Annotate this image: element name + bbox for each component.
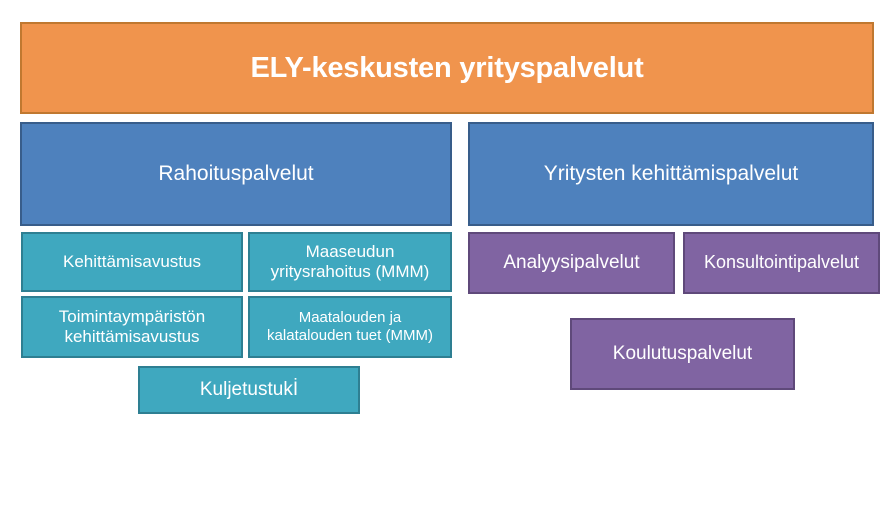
diagram-title-label: ELY-keskusten yrityspalvelut: [244, 51, 649, 85]
service-label-kehittamisavustus: Kehittämisavustus: [57, 252, 207, 272]
service-box-kehittamisavustus: Kehittämisavustus: [21, 232, 243, 292]
service-label-koulutuspalvelut: Koulutuspalvelut: [607, 343, 758, 365]
service-box-kuljetustuki: Kuljetustukİ: [138, 366, 360, 414]
diagram-canvas: ELY-keskusten yrityspalvelut Rahoituspal…: [0, 0, 894, 505]
service-label-konsultointipalvelut: Konsultointipalvelut: [698, 252, 865, 273]
service-box-toimintaympariston-kehittamisavustus: Toimintaympäristön kehittämisavustus: [21, 296, 243, 358]
branch-label-rahoituspalvelut: Rahoituspalvelut: [152, 162, 319, 187]
service-label-maatalouden-ja-kalatalouden-tuet: Maatalouden ja kalatalouden tuet (MMM): [250, 309, 450, 344]
service-label-maaseudun-yritysrahoitus: Maaseudun yritysrahoitus (MMM): [250, 242, 450, 282]
diagram-title-box: ELY-keskusten yrityspalvelut: [20, 22, 874, 114]
service-label-analyysipalvelut: Analyysipalvelut: [497, 252, 645, 274]
service-box-maatalouden-ja-kalatalouden-tuet: Maatalouden ja kalatalouden tuet (MMM): [248, 296, 452, 358]
branch-label-yritysten-kehittamispalvelut: Yritysten kehittämispalvelut: [538, 162, 804, 187]
service-label-kuljetustuki: Kuljetustukİ: [194, 379, 304, 401]
service-box-maaseudun-yritysrahoitus: Maaseudun yritysrahoitus (MMM): [248, 232, 452, 292]
service-label-toimintaympariston-kehittamisavustus: Toimintaympäristön kehittämisavustus: [23, 307, 241, 347]
service-box-analyysipalvelut: Analyysipalvelut: [468, 232, 675, 294]
branch-box-yritysten-kehittamispalvelut: Yritysten kehittämispalvelut: [468, 122, 874, 226]
branch-box-rahoituspalvelut: Rahoituspalvelut: [20, 122, 452, 226]
service-box-konsultointipalvelut: Konsultointipalvelut: [683, 232, 880, 294]
service-box-koulutuspalvelut: Koulutuspalvelut: [570, 318, 795, 390]
